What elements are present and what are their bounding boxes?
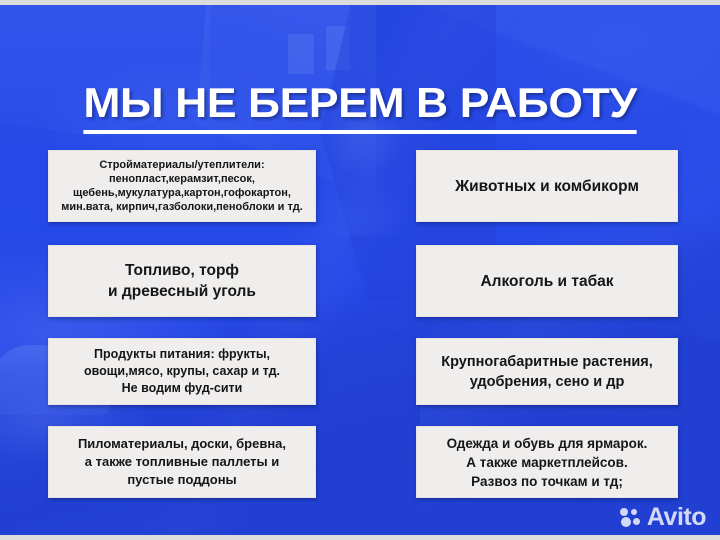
restriction-text: Одежда и обувь для ярмарок. А также марк…	[447, 434, 648, 491]
restriction-text: Крупногабаритные растения, удобрения, се…	[441, 352, 653, 392]
restriction-text: Пиломатериалы, доски, бревна, а также то…	[78, 435, 286, 489]
restriction-box-plants: Крупногабаритные растения, удобрения, се…	[416, 338, 678, 405]
restriction-box-animals: Животных и комбикорм	[416, 150, 678, 222]
avito-watermark: Avito	[620, 505, 706, 530]
restriction-box-fuel: Топливо, торф и древесный уголь	[48, 245, 316, 317]
restriction-box-clothing: Одежда и обувь для ярмарок. А также марк…	[416, 426, 678, 498]
avito-dots-icon	[620, 508, 642, 527]
promo-banner: МЫ НЕ БЕРЕМ В РАБОТУ Стройматериалы/утеп…	[0, 0, 720, 540]
restriction-text: Продукты питания: фрукты, овощи,мясо, кр…	[84, 346, 280, 397]
restriction-text: Животных и комбикорм	[455, 176, 639, 197]
restriction-box-alcohol: Алкоголь и табак	[416, 245, 678, 317]
left-column: Стройматериалы/утеплители: пенопласт,кер…	[48, 150, 316, 498]
restriction-box-construction: Стройматериалы/утеплители: пенопласт,кер…	[48, 150, 316, 222]
restriction-text: Алкоголь и табак	[480, 271, 613, 292]
bottom-edge-bar	[0, 535, 720, 540]
headline-container: МЫ НЕ БЕРЕМ В РАБОТУ	[0, 52, 720, 162]
page-title: МЫ НЕ БЕРЕМ В РАБОТУ	[83, 80, 636, 134]
restriction-box-lumber: Пиломатериалы, доски, бревна, а также то…	[48, 426, 316, 498]
restriction-text: Топливо, торф и древесный уголь	[108, 260, 256, 302]
right-column: Животных и комбикорм Алкоголь и табак Кр…	[416, 150, 678, 498]
top-edge-bar	[0, 0, 720, 5]
avito-wordmark: Avito	[647, 505, 706, 530]
restriction-text: Стройматериалы/утеплители: пенопласт,кер…	[61, 158, 303, 214]
restriction-box-food: Продукты питания: фрукты, овощи,мясо, кр…	[48, 338, 316, 405]
